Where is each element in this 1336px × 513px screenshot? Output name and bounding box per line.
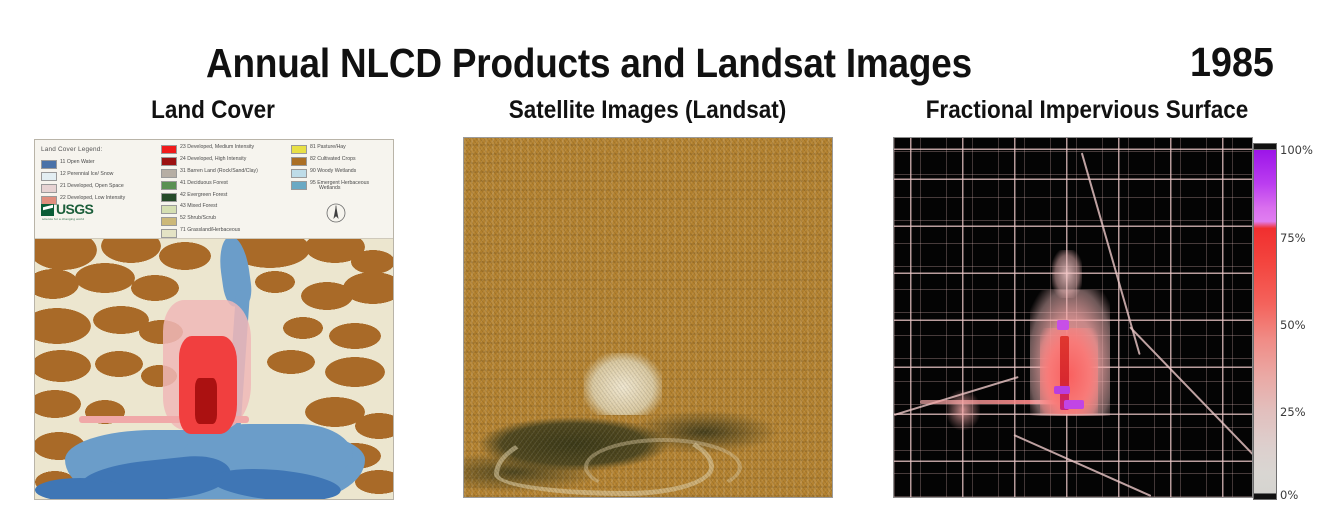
legend-item[interactable]: 12 Perennial Ice/ Snow — [41, 172, 161, 181]
legend-item[interactable]: 95 Emergent Herbaceous Wetlands — [291, 181, 391, 193]
colorbar-tick-100: 100% — [1280, 143, 1313, 157]
legend-swatch-24 — [161, 157, 177, 166]
legend-column-3: 81 Pasture/Hay 82 Cultivated Crops 90 Wo… — [291, 145, 391, 195]
legend-swatch-23 — [161, 145, 177, 154]
legend-label-95-line2: Wetlands — [310, 185, 341, 191]
legend-label-31: 31 Barren Land (Rock/Sand/Clay) — [180, 169, 258, 175]
legend-swatch-95 — [291, 181, 307, 190]
legend-column-2: 23 Developed, Medium Intensity 24 Develo… — [161, 145, 299, 240]
year-label: 1985 — [1190, 39, 1274, 86]
legend-item[interactable]: 71 Grassland/Herbaceous — [161, 228, 299, 237]
impervious-peak-3 — [1064, 400, 1084, 409]
legend-swatch-31 — [161, 169, 177, 178]
legend-item[interactable]: 43 Mixed Forest — [161, 204, 299, 213]
usgs-tagline: science for a changing world — [42, 218, 84, 221]
legend-item[interactable]: 42 Evergreen Forest — [161, 193, 299, 202]
legend-label-24: 24 Developed, High Intensity — [180, 157, 246, 163]
legend-label-41: 41 Deciduous Forest — [180, 181, 228, 187]
legend-item[interactable]: 90 Woody Wetlands — [291, 169, 391, 178]
land-cover-developed-high — [195, 378, 217, 424]
legend-swatch-42 — [161, 193, 177, 202]
legend-item[interactable]: 23 Developed, Medium Intensity — [161, 145, 299, 154]
north-arrow-icon — [325, 202, 347, 224]
legend-label-23: 23 Developed, Medium Intensity — [180, 145, 254, 151]
impervious-urban-high — [1060, 336, 1069, 410]
legend-label-43: 43 Mixed Forest — [180, 204, 217, 210]
legend-swatch-12 — [41, 172, 57, 181]
legend-swatch-71 — [161, 229, 177, 238]
colorbar-tick-75: 75% — [1280, 231, 1306, 245]
legend-item[interactable]: 24 Developed, High Intensity — [161, 157, 299, 166]
land-cover-map-panel: Land Cover Legend: 11 Open Water 12 Pere… — [34, 139, 394, 500]
legend-label-42: 42 Evergreen Forest — [180, 193, 227, 199]
legend-label-12: 12 Perennial Ice/ Snow — [60, 172, 113, 178]
title-row: Annual NLCD Products and Landsat Images … — [0, 18, 1336, 74]
legend-label-21: 21 Developed, Open Space — [60, 184, 124, 190]
impervious-peak-2 — [1054, 386, 1070, 394]
usgs-wordmark: USGS — [56, 202, 93, 218]
satellite-image-panel — [463, 137, 833, 498]
legend-swatch-41 — [161, 181, 177, 190]
legend-swatch-11 — [41, 160, 57, 169]
legend-swatch-43 — [161, 205, 177, 214]
legend-swatch-81 — [291, 145, 307, 154]
legend-item[interactable]: 21 Developed, Open Space — [41, 184, 161, 193]
land-cover-open-water-3 — [35, 478, 125, 500]
legend-title: Land Cover Legend: — [41, 146, 103, 153]
heading-fractional-impervious-surface: Fractional Impervious Surface — [894, 96, 1281, 125]
legend-item[interactable]: 11 Open Water — [41, 160, 161, 169]
legend-label-82: 82 Cultivated Crops — [310, 157, 356, 163]
legend-label-11: 11 Open Water — [60, 160, 95, 166]
legend-swatch-82 — [291, 157, 307, 166]
legend-label-90: 90 Woody Wetlands — [310, 169, 356, 175]
legend-swatch-90 — [291, 169, 307, 178]
legend-label-95: 95 Emergent Herbaceous Wetlands — [310, 181, 369, 193]
legend-swatch-21 — [41, 184, 57, 193]
page-title: Annual NLCD Products and Landsat Images — [206, 40, 972, 87]
usgs-mark-icon — [41, 204, 54, 216]
heading-land-cover: Land Cover — [51, 96, 375, 125]
impervious-peak-1 — [1057, 320, 1069, 330]
colorbar-gradient — [1253, 148, 1277, 495]
legend-item[interactable]: 52 Shrub/Scrub — [161, 216, 299, 225]
legend-item[interactable]: 41 Deciduous Forest — [161, 181, 299, 190]
colorbar-tick-0: 0% — [1280, 488, 1298, 502]
satellite-grain-overlay — [464, 138, 832, 497]
impervious-surface-map-panel — [893, 137, 1253, 498]
land-cover-legend: Land Cover Legend: 11 Open Water 12 Pere… — [35, 140, 393, 239]
colorbar-cap-top — [1253, 143, 1277, 150]
colorbar-cap-bottom — [1253, 493, 1277, 500]
colorbar-tick-50: 50% — [1280, 318, 1306, 332]
legend-label-81: 81 Pasture/Hay — [310, 145, 346, 151]
legend-label-52: 52 Shrub/Scrub — [180, 216, 216, 222]
impervious-surface-colorbar: 100% 75% 50% 25% 0% — [1253, 143, 1333, 498]
legend-item[interactable]: 81 Pasture/Hay — [291, 145, 391, 154]
legend-item[interactable]: 82 Cultivated Crops — [291, 157, 391, 166]
usgs-logo: USGS science for a changing world — [41, 202, 115, 226]
colorbar-tick-25: 25% — [1280, 405, 1306, 419]
legend-label-71: 71 Grassland/Herbaceous — [180, 228, 240, 234]
legend-swatch-52 — [161, 217, 177, 226]
impervious-western-cluster — [946, 390, 980, 430]
heading-satellite-images: Satellite Images (Landsat) — [474, 96, 821, 125]
legend-item[interactable]: 31 Barren Land (Rock/Sand/Clay) — [161, 169, 299, 178]
